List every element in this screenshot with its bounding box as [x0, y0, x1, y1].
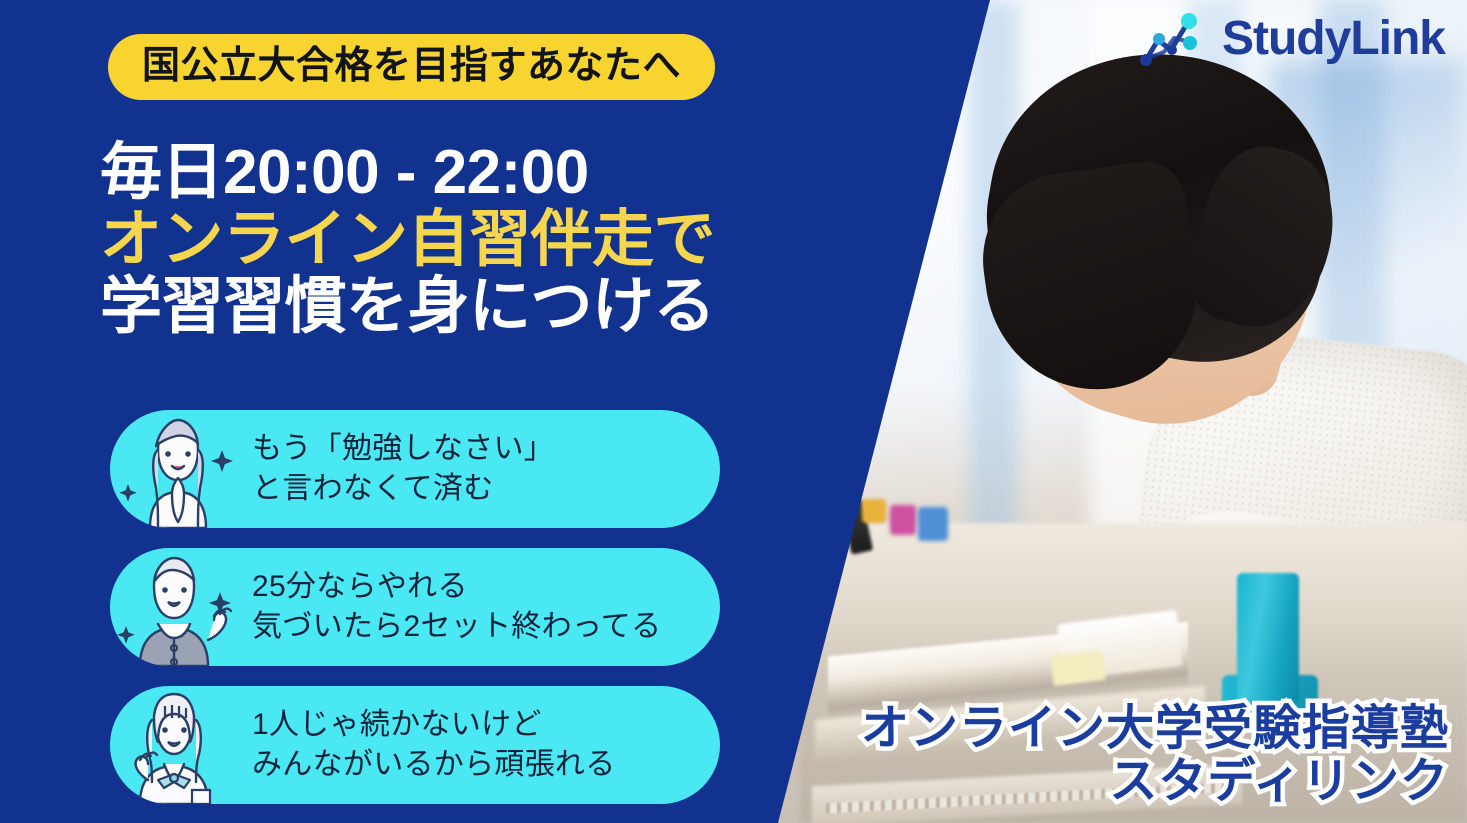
desk-item-pink: [890, 505, 916, 535]
footer-brand-name: オンライン大学受験指導塾 スタディリンク: [861, 702, 1449, 810]
benefit-1-line-1: もう「勉強しなさい」: [252, 429, 554, 469]
target-audience-badge: 国公立大合格を目指すあなたへ: [108, 34, 715, 100]
benefit-2-line-2: 気づいたら2セット終わってる: [252, 607, 661, 647]
benefit-text-2: 25分ならやれる 気づいたら2セット終わってる: [246, 567, 661, 646]
benefit-item-3[interactable]: 1人じゃ続かないけど みんながいるから頑張れる: [110, 686, 720, 804]
page-title: 毎日20:00 - 22:00 オンライン自習伴走で 学習習慣を身につける: [100, 140, 860, 341]
female-student-waving-icon: [110, 686, 246, 804]
mother-praying-icon: [110, 410, 246, 528]
benefit-item-1[interactable]: もう「勉強しなさい」 と言わなくて済む: [110, 410, 720, 528]
male-student-waving-icon: [110, 548, 246, 666]
benefit-text-1: もう「勉強しなさい」 と言わなくて済む: [246, 429, 554, 508]
headline-line-1: 毎日20:00 - 22:00: [100, 140, 860, 207]
benefit-list: もう「勉強しなさい」 と言わなくて済む: [110, 410, 720, 823]
headline-line-2: オンライン自習伴走で: [100, 207, 860, 274]
benefit-1-line-2: と言わなくて済む: [252, 469, 554, 509]
benefit-2-line-1: 25分ならやれる: [252, 567, 661, 607]
benefit-3-line-2: みんながいるから頑張れる: [252, 745, 616, 785]
footer-brand-line-1: オンライン大学受験指導塾: [861, 702, 1449, 756]
footer-brand-line-2: スタディリンク: [861, 755, 1449, 809]
studylink-logo[interactable]: StudyLink: [1138, 8, 1445, 70]
sticky-note: [1050, 650, 1105, 686]
poster-canvas: StudyLink 国公立大合格を目指すあなたへ 毎日20:00 - 22:00…: [0, 0, 1467, 823]
benefit-item-2[interactable]: 25分ならやれる 気づいたら2セット終わってる: [110, 548, 720, 666]
desk-item-yellow: [862, 499, 886, 523]
benefit-3-line-1: 1人じゃ続かないけど: [252, 705, 616, 745]
network-graph-icon: [1138, 8, 1212, 70]
studylink-logo-text: StudyLink: [1222, 15, 1445, 63]
headline-line-3: 学習習慣を身につける: [100, 274, 860, 341]
desk-item-blue: [918, 507, 948, 541]
benefit-text-3: 1人じゃ続かないけど みんながいるから頑張れる: [246, 705, 616, 784]
water-bottle: [1237, 573, 1299, 703]
